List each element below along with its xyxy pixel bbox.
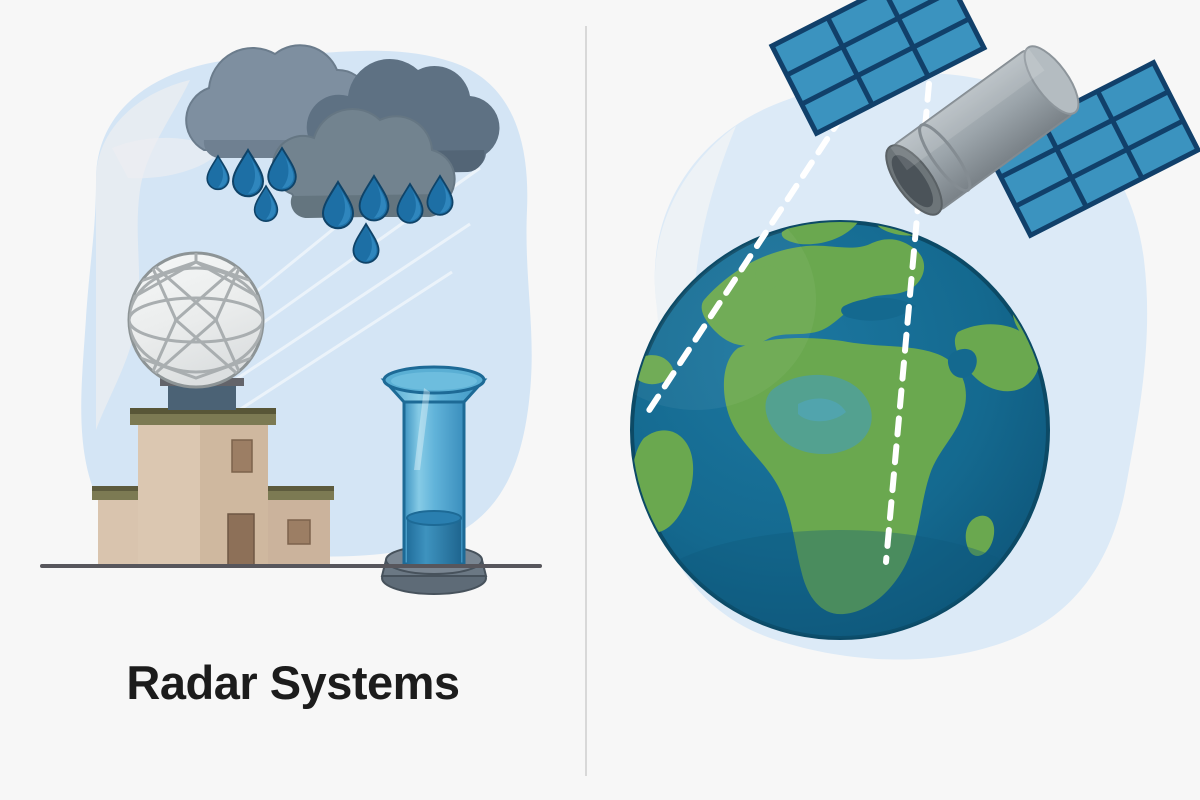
caption-radar-systems: Radar Systems [0, 655, 586, 710]
illustration-canvas: Radar Systems [0, 0, 1200, 800]
panel-divider [585, 26, 587, 776]
panel-satellite-observations: Satellite Observations [586, 0, 1200, 800]
geodesic-radar-dome [129, 253, 263, 387]
panel-radar-systems: Radar Systems [0, 0, 586, 800]
caption-satellite-observations: Satellite Observations [1172, 694, 1200, 749]
satellite-observations-illustration [586, 0, 1200, 800]
